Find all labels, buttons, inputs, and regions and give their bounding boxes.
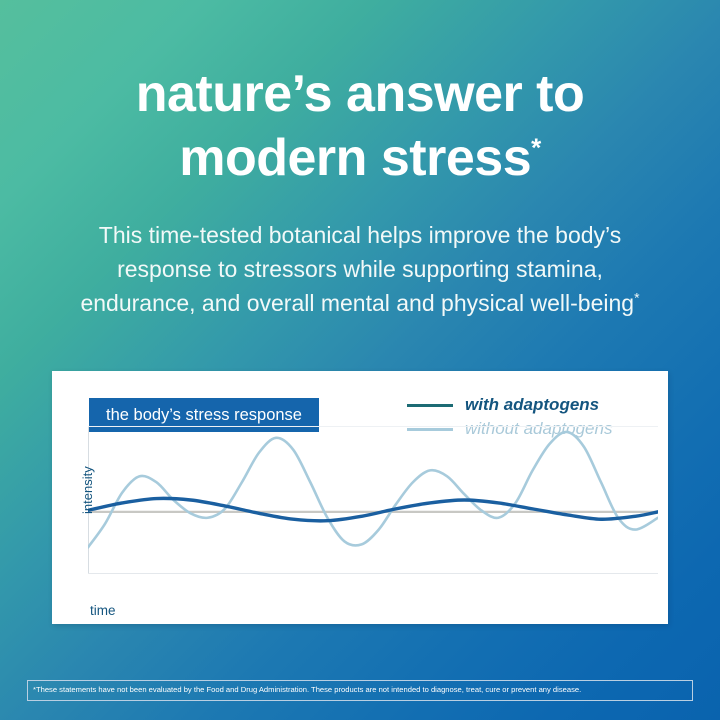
poster-root: nature’s answer to modern stress* This t… (0, 0, 720, 720)
chart-svg (88, 426, 658, 598)
series-line-without-adaptogens (88, 432, 658, 547)
page-title: nature’s answer to modern stress* (0, 62, 720, 190)
legend-item-with-adaptogens: with adaptogens (407, 393, 657, 417)
x-axis-label: time (90, 603, 116, 618)
chart-plot-area: intensity (88, 426, 658, 598)
headline-line-2: modern stress* (0, 126, 720, 190)
chart-card: the body’s stress response with adaptoge… (52, 371, 668, 624)
headline-line-1: nature’s answer to (0, 62, 720, 126)
disclaimer-text: *These statements have not been evaluate… (27, 680, 693, 701)
y-axis-label: intensity (80, 466, 95, 514)
subtitle-line-1: This time-tested botanical helps improve… (0, 218, 720, 252)
headline-line-2-text: modern stress (179, 129, 531, 187)
subtitle: This time-tested botanical helps improve… (0, 218, 720, 320)
subtitle-footnote-marker: * (634, 289, 639, 305)
legend-label-with: with adaptogens (465, 395, 599, 415)
legend-line-icon-with (407, 404, 453, 407)
subtitle-line-3: endurance, and overall mental and physic… (0, 286, 720, 320)
headline-footnote-marker: * (531, 133, 541, 163)
subtitle-line-2: response to stressors while supporting s… (0, 252, 720, 286)
subtitle-line-3-text: endurance, and overall mental and physic… (80, 290, 634, 316)
